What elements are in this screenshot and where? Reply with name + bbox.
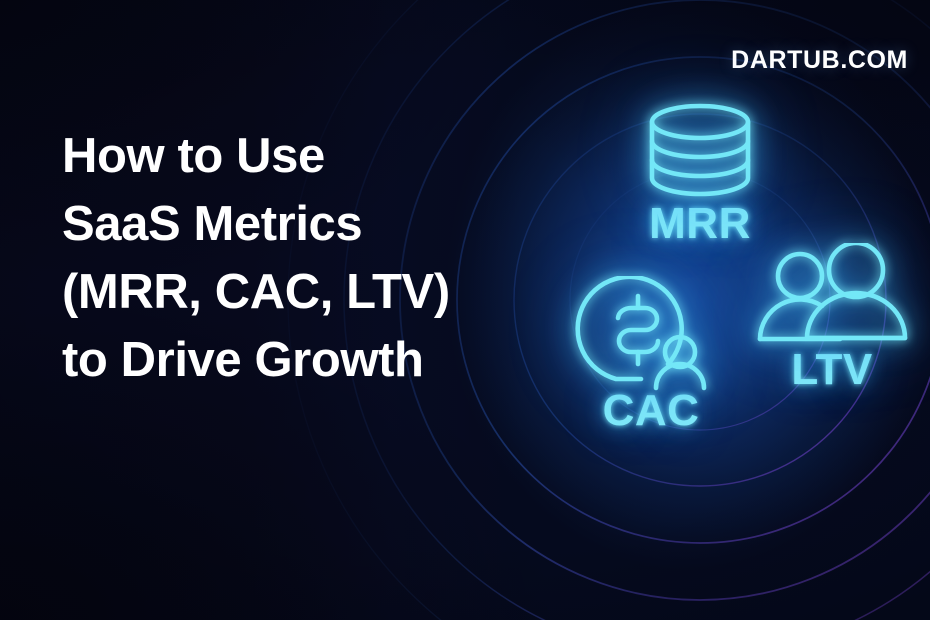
metric-mrr-label: MRR [600, 202, 800, 246]
brand-logo: DARTUB.COM [731, 46, 908, 75]
headline-line-3: (MRR, CAC, LTV) [62, 258, 532, 326]
two-people-icon [742, 243, 922, 348]
metric-ltv: LTV [742, 243, 922, 392]
headline-line-1: How to Use [62, 122, 532, 190]
dollar-circle-person-icon [556, 276, 746, 391]
headline-line-2: SaaS Metrics [62, 190, 532, 258]
headline-line-4: to Drive Growth [62, 326, 532, 394]
database-cylinder-icon [600, 100, 800, 200]
metric-ltv-label: LTV [742, 348, 922, 392]
metric-cac: CAC [556, 276, 746, 433]
metric-mrr: MRR [600, 100, 800, 246]
social-card-canvas: DARTUB.COM How to Use SaaS Metrics (MRR,… [0, 0, 930, 620]
headline-block: How to Use SaaS Metrics (MRR, CAC, LTV) … [62, 122, 532, 394]
metric-cac-label: CAC [556, 389, 746, 433]
